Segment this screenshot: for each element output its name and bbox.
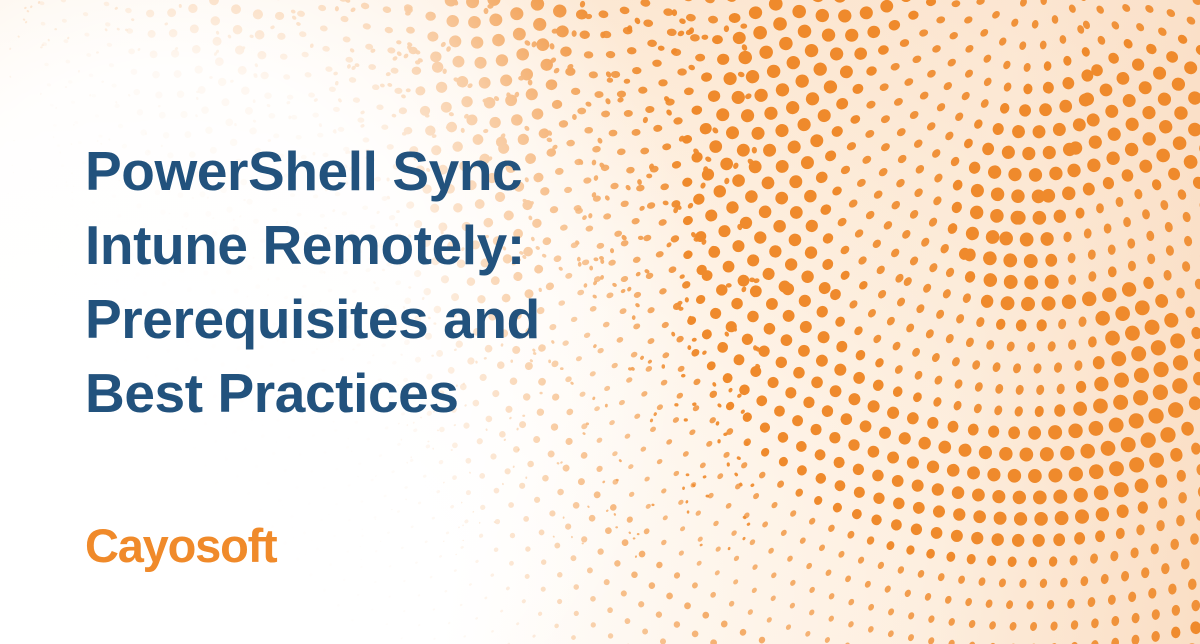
brand-logo-cayosoft: Cayosoft: [85, 518, 276, 574]
hero-banner: PowerShell Sync Intune Remotely: Prerequ…: [0, 0, 1200, 644]
page-title: PowerShell Sync Intune Remotely: Prerequ…: [85, 134, 705, 430]
hero-content: PowerShell Sync Intune Remotely: Prerequ…: [85, 0, 725, 644]
